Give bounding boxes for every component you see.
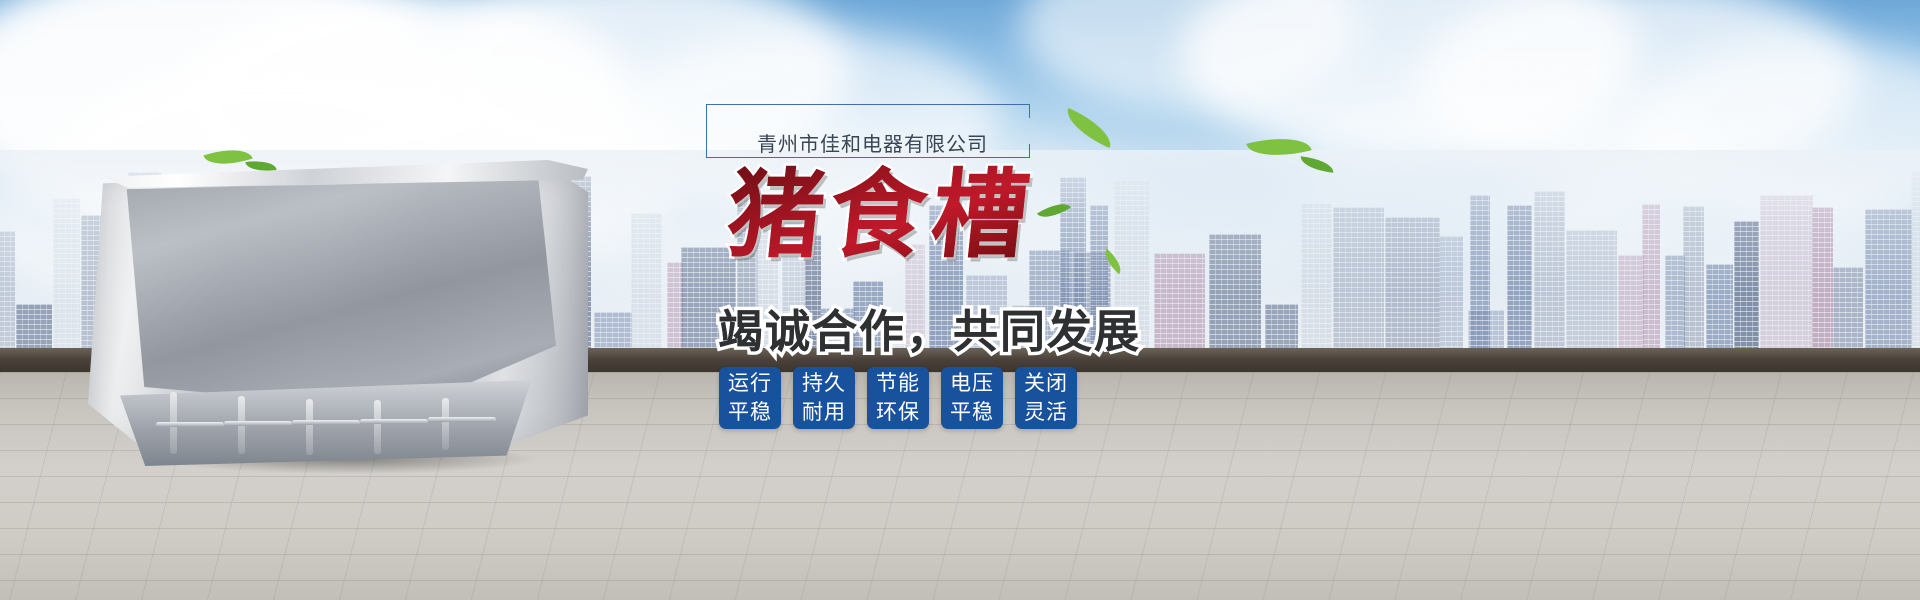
feeder-bar <box>292 420 360 425</box>
skyline-building <box>0 231 15 355</box>
skyline-building <box>1566 230 1617 355</box>
feeder-divider <box>442 398 449 450</box>
feature-badge-line2: 平稳 <box>950 398 994 427</box>
skyline-building <box>1385 217 1440 355</box>
skyline-building <box>1439 236 1463 355</box>
feature-badge[interactable]: 运行 平稳 <box>719 367 781 429</box>
feature-badge-line1: 电压 <box>950 369 994 398</box>
promo-banner: 青州市佳和电器有限公司 猪食槽 猪食槽 竭诚合作，共同发展 竭诚合作，共同发展 … <box>0 0 1920 600</box>
skyline-building <box>1706 264 1733 355</box>
skyline-building <box>1618 255 1644 355</box>
skyline-building <box>1812 207 1833 355</box>
skyline-building <box>1333 207 1384 355</box>
feature-badge-line1: 持久 <box>802 369 846 398</box>
skyline-building <box>1865 209 1912 355</box>
headline-text-block: 青州市佳和电器有限公司 猪食槽 猪食槽 竭诚合作，共同发展 竭诚合作，共同发展 … <box>700 95 1300 565</box>
feeder-bar <box>360 419 428 424</box>
product-image-pig-feeder <box>60 150 620 480</box>
company-name: 青州市佳和电器有限公司 <box>757 128 988 157</box>
feeder-divider <box>306 399 313 455</box>
skyline-building <box>1833 267 1863 355</box>
feature-badge-line2: 平稳 <box>728 398 772 427</box>
feature-badge-list: 运行 平稳 持久 耐用 节能 环保 电压 平稳 关闭 灵活 <box>719 367 1077 429</box>
feature-badge-line1: 节能 <box>876 369 920 398</box>
skyline-building <box>1534 191 1565 355</box>
skyline-building <box>1507 205 1532 355</box>
skyline-building <box>631 213 662 355</box>
feature-badge[interactable]: 持久 耐用 <box>793 367 855 429</box>
feeder-bar <box>428 417 496 422</box>
feature-badge[interactable]: 节能 环保 <box>867 367 929 429</box>
feature-badge-line2: 灵活 <box>1024 398 1068 427</box>
feature-badge[interactable]: 关闭 灵活 <box>1015 367 1077 429</box>
feeder-bar <box>156 422 224 427</box>
skyline-building <box>1665 255 1685 355</box>
subtitle: 竭诚合作，共同发展 <box>718 295 1141 360</box>
skyline-landmark-tower <box>1470 195 1490 355</box>
skyline-building <box>1301 203 1332 355</box>
feeder-bar <box>224 421 292 426</box>
feature-badge-line1: 运行 <box>728 369 772 398</box>
skyline-building <box>1642 204 1660 355</box>
feature-badge-line2: 耐用 <box>802 398 846 427</box>
skyline-building <box>1911 171 1920 355</box>
skyline-building <box>1760 195 1813 355</box>
feeder-divider <box>374 400 381 454</box>
feature-badge[interactable]: 电压 平稳 <box>941 367 1003 429</box>
skyline-building <box>1683 206 1704 355</box>
feature-badge-line1: 关闭 <box>1024 369 1068 398</box>
headline-title: 猪食槽 <box>722 160 1064 270</box>
skyline-building <box>1734 221 1759 355</box>
feature-badge-line2: 环保 <box>876 398 920 427</box>
